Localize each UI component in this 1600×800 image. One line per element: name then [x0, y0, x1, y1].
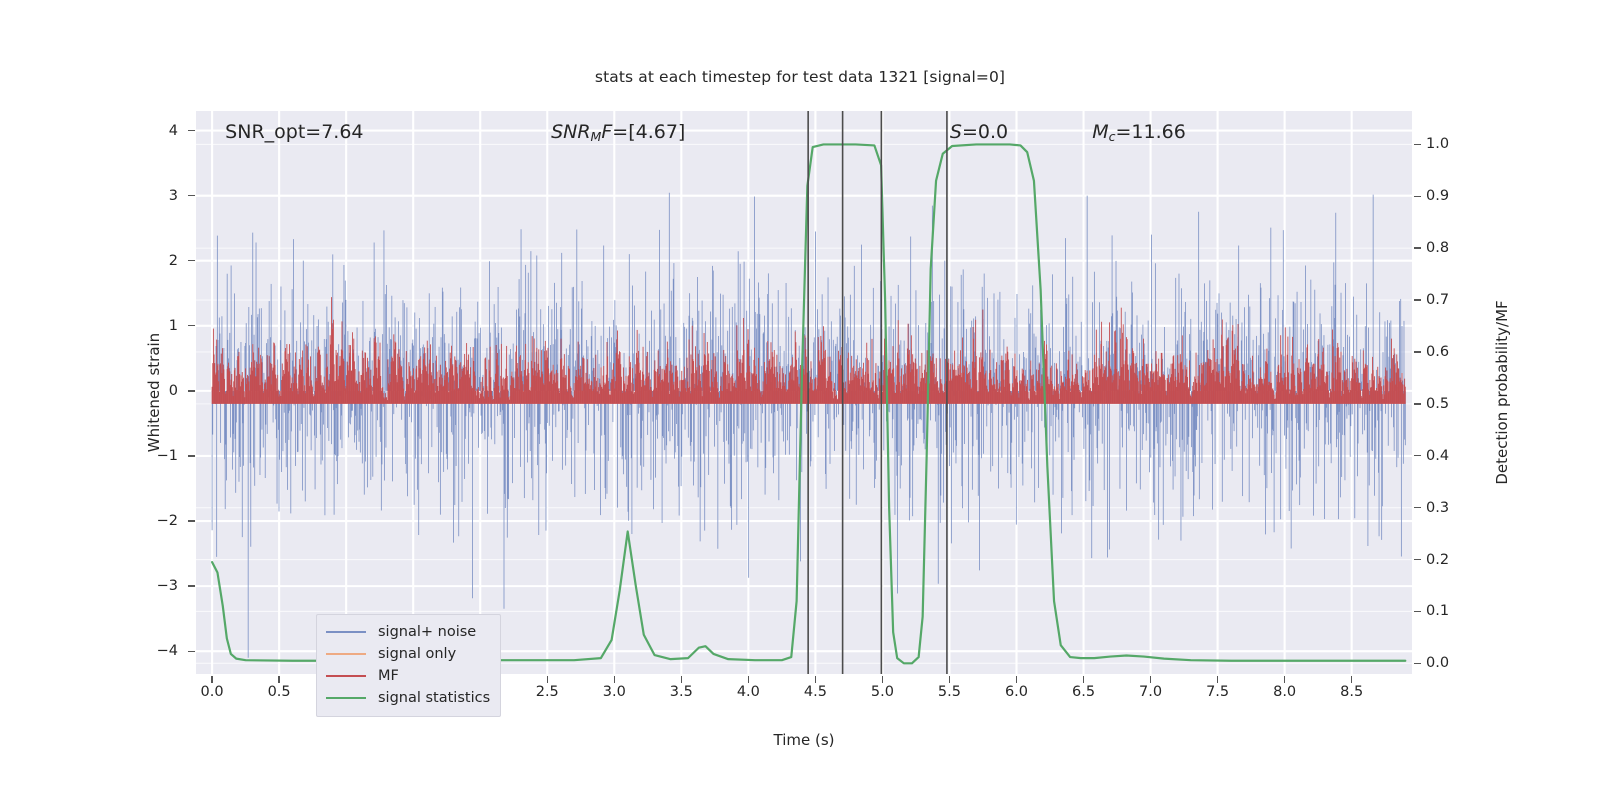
y-tick-mark-right [1414, 507, 1421, 508]
x-tick-mark [1284, 676, 1285, 683]
plot-area [196, 111, 1412, 674]
y-tick-mark-left [188, 520, 195, 521]
x-tick-label: 5.5 [938, 684, 961, 700]
y-tick-mark-left [188, 130, 195, 131]
x-tick-mark [614, 676, 615, 683]
y-tick-label-right: 0.8 [1426, 240, 1449, 256]
y-axis-label-right: Detection probability/MF [1493, 111, 1511, 674]
x-tick-mark [547, 676, 548, 683]
x-tick-mark [681, 676, 682, 683]
legend-swatch-icon [326, 697, 366, 699]
legend-label: signal only [378, 646, 456, 662]
legend-swatch-icon [326, 675, 366, 677]
x-tick-mark [949, 676, 950, 683]
y-tick-mark-right [1414, 351, 1421, 352]
x-tick-mark [1217, 676, 1218, 683]
annotation-snr-opt: SNR_opt=7.64 [225, 121, 363, 143]
y-tick-label-right: 0.9 [1426, 188, 1449, 204]
x-tick-label: 4.0 [737, 684, 760, 700]
x-tick-mark [748, 676, 749, 683]
x-tick-mark [211, 676, 212, 683]
y-tick-mark-right [1414, 196, 1421, 197]
x-tick-label: 6.5 [1072, 684, 1095, 700]
legend-swatch-icon [326, 631, 366, 633]
y-tick-mark-right [1414, 455, 1421, 456]
y-tick-label-right: 0.2 [1426, 552, 1449, 568]
x-tick-mark [1083, 676, 1084, 683]
x-tick-mark [882, 676, 883, 683]
x-tick-mark [815, 676, 816, 683]
legend-swatch-icon [326, 653, 366, 655]
y-tick-mark-left [188, 260, 195, 261]
y-tick-label-right: 0.3 [1426, 500, 1449, 516]
x-tick-label: 8.5 [1340, 684, 1363, 700]
x-tick-label: 4.5 [804, 684, 827, 700]
x-tick-mark [1351, 676, 1352, 683]
x-tick-label: 3.0 [603, 684, 626, 700]
y-tick-label-right: 0.5 [1426, 396, 1449, 412]
y-tick-label-right: 0.6 [1426, 344, 1449, 360]
page-title: stats at each timestep for test data 132… [0, 68, 1600, 86]
legend-label: signal statistics [378, 690, 490, 706]
x-tick-label: 3.5 [670, 684, 693, 700]
figure-canvas: stats at each timestep for test data 132… [0, 0, 1600, 800]
x-tick-label: 0.5 [268, 684, 291, 700]
y-tick-label-right: 1.0 [1426, 136, 1449, 152]
x-tick-mark [1016, 676, 1017, 683]
x-tick-label: 7.0 [1139, 684, 1162, 700]
series-layer [196, 111, 1412, 674]
y-axis-label-left: Whitened strain [145, 111, 163, 674]
y-tick-mark-left [188, 651, 195, 652]
y-tick-mark-right [1414, 559, 1421, 560]
legend-item-3[interactable]: signal statistics [326, 687, 490, 709]
x-tick-label: 7.5 [1206, 684, 1229, 700]
legend-label: signal+ noise [378, 624, 476, 640]
y-tick-label-right: 0.7 [1426, 292, 1449, 308]
legend[interactable]: signal+ noisesignal onlyMFsignal statist… [316, 614, 501, 717]
x-axis-label: Time (s) [196, 731, 1412, 749]
x-tick-label: 8.0 [1273, 684, 1296, 700]
y-tick-mark-left [188, 585, 195, 586]
y-tick-mark-right [1414, 663, 1421, 664]
y-tick-mark-right [1414, 611, 1421, 612]
x-tick-label: 2.5 [536, 684, 559, 700]
y-tick-mark-right [1414, 403, 1421, 404]
legend-label: MF [378, 668, 399, 684]
y-tick-label-right: 0.1 [1426, 603, 1449, 619]
y-tick-mark-right [1414, 144, 1421, 145]
y-tick-mark-right [1414, 299, 1421, 300]
x-tick-mark [1150, 676, 1151, 683]
legend-item-2[interactable]: MF [326, 665, 490, 687]
x-tick-label: 5.0 [871, 684, 894, 700]
x-tick-label: 6.0 [1005, 684, 1028, 700]
y-tick-mark-left [188, 325, 195, 326]
y-tick-mark-left [188, 455, 195, 456]
legend-item-0[interactable]: signal+ noise [326, 621, 490, 643]
y-tick-label-right: 0.0 [1426, 655, 1449, 671]
y-tick-mark-left [188, 195, 195, 196]
annotation-chirp-mass: Mc=11.66 [1092, 121, 1186, 144]
x-tick-label: 0.0 [201, 684, 224, 700]
annotation-s-value: S=0.0 [950, 121, 1008, 143]
y-tick-mark-left [188, 390, 195, 391]
y-tick-label-right: 0.4 [1426, 448, 1449, 464]
y-tick-mark-right [1414, 247, 1421, 248]
legend-item-1[interactable]: signal only [326, 643, 490, 665]
x-tick-mark [278, 676, 279, 683]
annotation-snr-mf: SNRMF=[4.67] [551, 121, 685, 144]
